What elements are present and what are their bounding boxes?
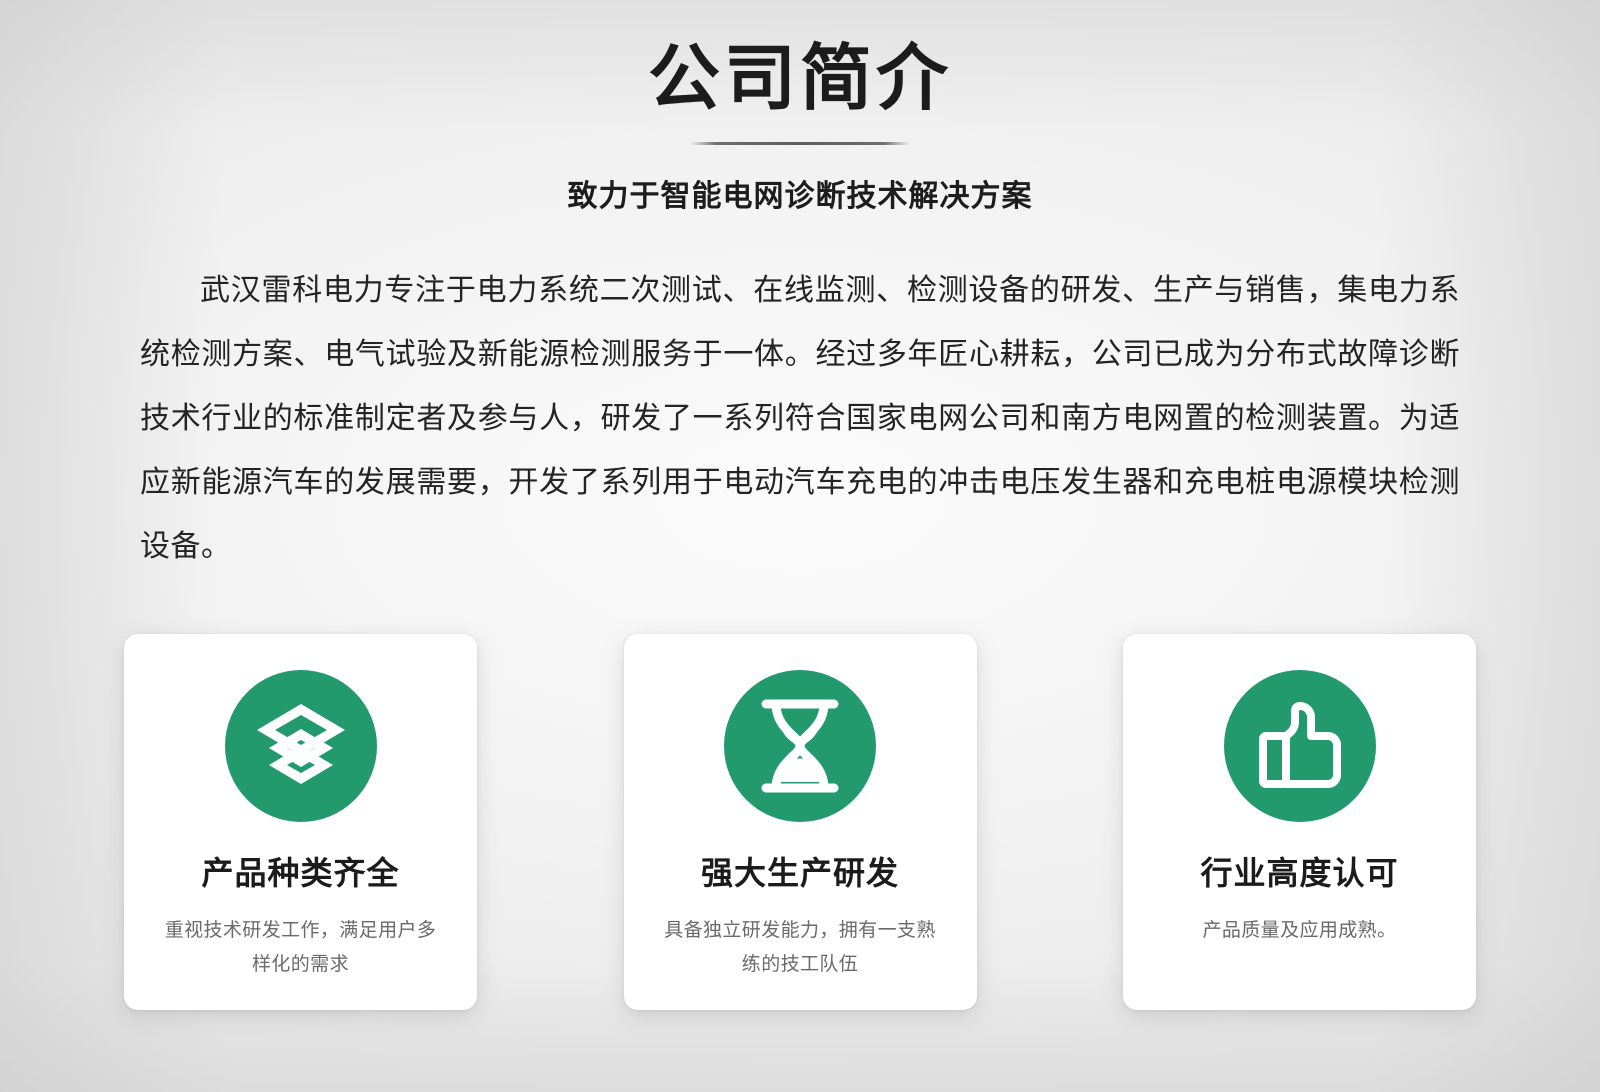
feature-card-product-range[interactable]: 产品种类齐全 重视技术研发工作，满足用户多样化的需求: [124, 634, 477, 1010]
intro-paragraph: 武汉雷科电力专注于电力系统二次测试、在线监测、检测设备的研发、生产与销售，集电力…: [140, 259, 1460, 579]
layers-icon: [225, 670, 377, 822]
feature-card-title: 产品种类齐全: [201, 854, 399, 892]
section-header: 公司简介 致力于智能电网诊断技术解决方案: [0, 0, 1600, 215]
feature-card-title: 强大生产研发: [701, 854, 899, 892]
page-subtitle: 致力于智能电网诊断技术解决方案: [0, 171, 1600, 215]
page-title: 公司简介: [0, 38, 1600, 122]
company-profile-section: 公司简介 致力于智能电网诊断技术解决方案 武汉雷科电力专注于电力系统二次测试、在…: [0, 0, 1600, 1092]
hourglass-icon: [724, 670, 876, 822]
feature-card-description: 重视技术研发工作，满足用户多样化的需求: [158, 914, 443, 982]
title-divider: [690, 142, 910, 145]
feature-card-title: 行业高度认可: [1200, 854, 1398, 892]
feature-card-description: 产品质量及应用成熟。: [1157, 914, 1442, 948]
feature-card-recognition[interactable]: 行业高度认可 产品质量及应用成熟。: [1123, 634, 1476, 1010]
feature-card-list: 产品种类齐全 重视技术研发工作，满足用户多样化的需求 强大生产研发 具备独立: [124, 634, 1476, 1010]
feature-card-description: 具备独立研发能力，拥有一支熟练的技工队伍: [658, 914, 943, 982]
thumbs-up-icon: [1224, 670, 1376, 822]
feature-card-rnd[interactable]: 强大生产研发 具备独立研发能力，拥有一支熟练的技工队伍: [624, 634, 977, 1010]
